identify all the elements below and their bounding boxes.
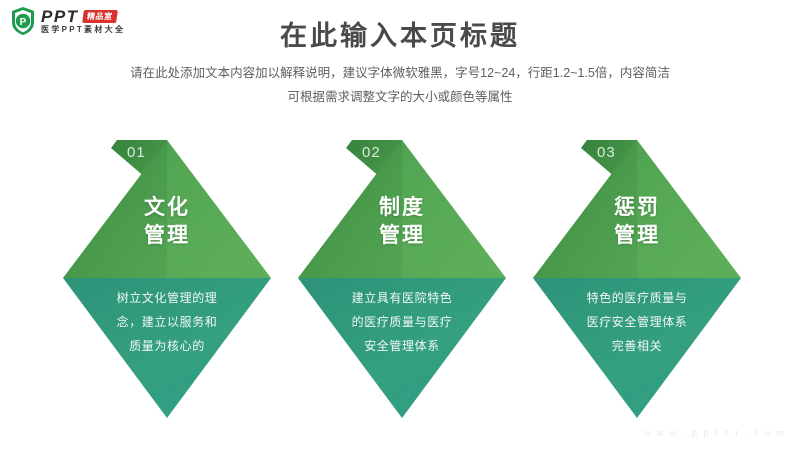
card-body-line-2: 医疗安全管理体系 (531, 310, 743, 334)
card-body-line-1: 特色的医疗质量与 (531, 286, 743, 310)
card-heading-01: 文化 管理 (61, 194, 273, 249)
diamond-card-02[interactable]: 02 制度 管理 建立具有医院特色 的医疗质量与医疗 安全管理体系 (296, 138, 508, 420)
diamond-card-03[interactable]: 03 惩罚 管理 特色的医疗质量与 医疗安全管理体系 完善相关 (531, 138, 743, 420)
card-number-03: 03 (597, 144, 616, 161)
card-body-line-1: 建立具有医院特色 (296, 286, 508, 310)
card-body-line-3: 安全管理体系 (296, 334, 508, 358)
card-body-line-1: 树立文化管理的理 (61, 286, 273, 310)
card-body-line-3: 完善相关 (531, 334, 743, 358)
card-number-02: 02 (362, 144, 381, 161)
card-body-03: 特色的医疗质量与 医疗安全管理体系 完善相关 (531, 286, 743, 358)
diamond-card-group: 01 文化 管理 树立文化管理的理 念，建立以服务和 质量为核心的 (0, 0, 800, 450)
card-body-01: 树立文化管理的理 念，建立以服务和 质量为核心的 (61, 286, 273, 358)
diamond-shape-03 (531, 138, 743, 420)
diamond-shape-02 (296, 138, 508, 420)
diamond-shape-01 (61, 138, 273, 420)
card-heading-line-1: 惩罚 (531, 194, 743, 222)
card-heading-03: 惩罚 管理 (531, 194, 743, 249)
card-heading-line-2: 管理 (531, 222, 743, 250)
card-body-line-2: 念，建立以服务和 (61, 310, 273, 334)
card-body-line-2: 的医疗质量与医疗 (296, 310, 508, 334)
card-heading-line-2: 管理 (61, 222, 273, 250)
site-watermark: w w w . p p t e r . c o m (644, 428, 786, 438)
card-heading-line-1: 文化 (61, 194, 273, 222)
card-number-01: 01 (127, 144, 146, 161)
card-body-line-3: 质量为核心的 (61, 334, 273, 358)
card-body-02: 建立具有医院特色 的医疗质量与医疗 安全管理体系 (296, 286, 508, 358)
diamond-card-01[interactable]: 01 文化 管理 树立文化管理的理 念，建立以服务和 质量为核心的 (61, 138, 273, 420)
card-heading-line-1: 制度 (296, 194, 508, 222)
card-heading-line-2: 管理 (296, 222, 508, 250)
card-heading-02: 制度 管理 (296, 194, 508, 249)
